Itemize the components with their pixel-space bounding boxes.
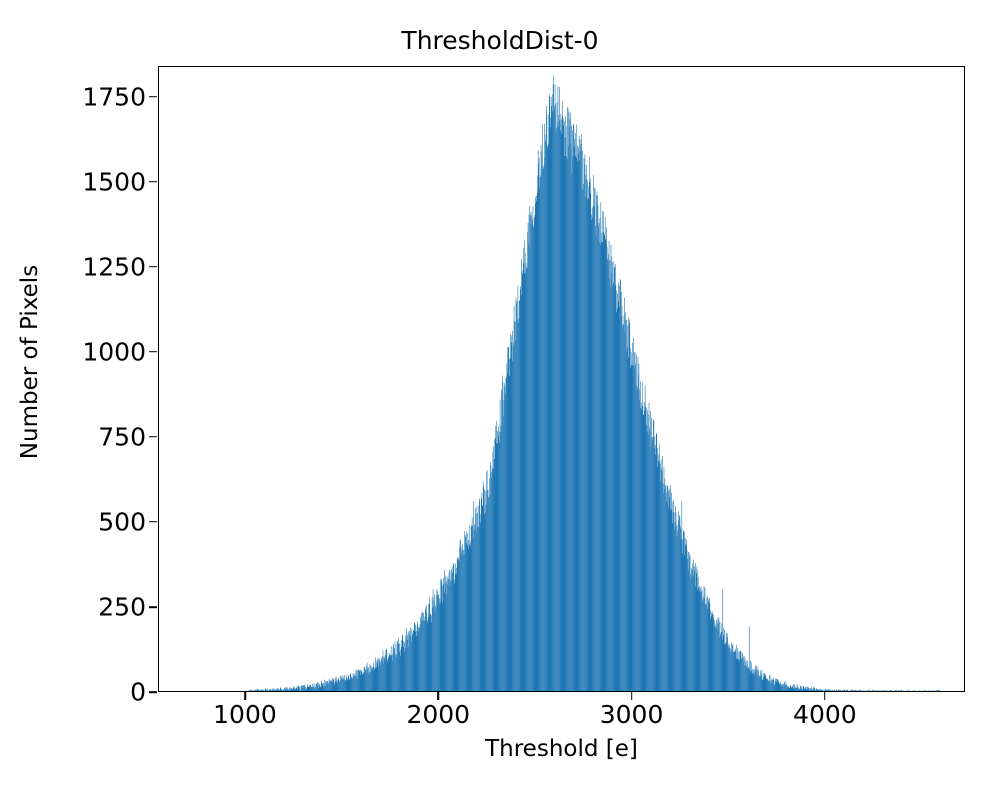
histogram-bar: [909, 690, 910, 691]
plot-area: [158, 66, 965, 692]
x-axis-label: Threshold [e]: [158, 736, 965, 762]
histogram-bar: [882, 690, 883, 691]
x-tick-mark: [244, 692, 246, 700]
histogram-bar: [826, 689, 827, 691]
y-axis-label: Number of Pixels: [17, 202, 43, 522]
x-tick-label: 2000: [406, 700, 470, 729]
histogram-bar: [829, 689, 830, 691]
histogram-bar: [939, 690, 940, 691]
y-tick-label: 1500: [82, 167, 146, 196]
histogram-bar: [837, 690, 838, 691]
histogram-bar: [264, 690, 265, 691]
histogram-bar: [281, 689, 282, 691]
y-tick-label: 1000: [82, 337, 146, 366]
histogram-bar: [923, 690, 924, 691]
x-tick-label: 3000: [600, 700, 664, 729]
histogram-bar: [820, 688, 821, 691]
histogram-bar: [928, 690, 929, 691]
y-tick-label: 750: [98, 422, 146, 451]
histogram-bar: [844, 690, 845, 691]
histogram-bar: [892, 690, 893, 691]
y-tick-label: 1250: [82, 252, 146, 281]
histogram-bar: [262, 690, 263, 691]
histogram-bar: [924, 690, 925, 691]
y-tick-mark: [149, 266, 157, 268]
histogram-bar: [884, 690, 885, 691]
histogram-bar: [886, 690, 887, 691]
histogram-svg: [159, 67, 964, 691]
histogram-bar: [925, 690, 926, 691]
histogram-bar: [869, 690, 870, 691]
histogram-bar: [932, 690, 933, 691]
histogram-bar: [877, 690, 878, 691]
histogram-bar: [929, 690, 930, 691]
y-tick-mark: [149, 181, 157, 183]
figure-canvas: ThresholdDist-0 025050075010001250150017…: [0, 0, 1000, 800]
y-tick-mark: [149, 351, 157, 353]
histogram-bar: [935, 690, 936, 691]
bars-group: [246, 76, 940, 691]
histogram-bar: [872, 690, 873, 691]
histogram-bar: [903, 690, 904, 691]
histogram-bar: [842, 690, 843, 691]
y-tick-mark: [149, 606, 157, 608]
y-tick-label: 250: [98, 592, 146, 621]
y-tick-mark: [149, 521, 157, 523]
histogram-bar: [891, 690, 892, 691]
histogram-bar: [897, 690, 898, 691]
histogram-bar: [861, 690, 862, 691]
y-tick-mark: [149, 436, 157, 438]
histogram-bar: [900, 690, 901, 691]
histogram-bar: [841, 690, 842, 691]
x-tick-mark: [437, 692, 439, 700]
histogram-bar: [271, 690, 272, 691]
histogram-bars: [159, 67, 964, 691]
histogram-bar: [259, 690, 260, 691]
y-tick-label: 0: [130, 678, 146, 707]
histogram-bar: [832, 690, 833, 691]
histogram-bar: [875, 690, 876, 691]
histogram-bar: [267, 689, 268, 691]
y-tick-label: 1750: [82, 82, 146, 111]
histogram-bar: [870, 690, 871, 691]
histogram-bar: [266, 688, 267, 691]
histogram-bar: [860, 690, 861, 691]
y-tick-mark: [149, 96, 157, 98]
x-tick-label: 1000: [213, 700, 277, 729]
histogram-bar: [883, 690, 884, 691]
page-title: ThresholdDist-0: [0, 26, 1000, 56]
x-tick-mark: [824, 692, 826, 700]
y-tick-label: 500: [98, 507, 146, 536]
x-tick-label: 4000: [793, 700, 857, 729]
x-tick-mark: [631, 692, 633, 700]
histogram-bar: [856, 690, 857, 691]
y-tick-mark: [149, 691, 157, 693]
histogram-bar: [901, 690, 902, 691]
histogram-bar: [898, 690, 899, 691]
